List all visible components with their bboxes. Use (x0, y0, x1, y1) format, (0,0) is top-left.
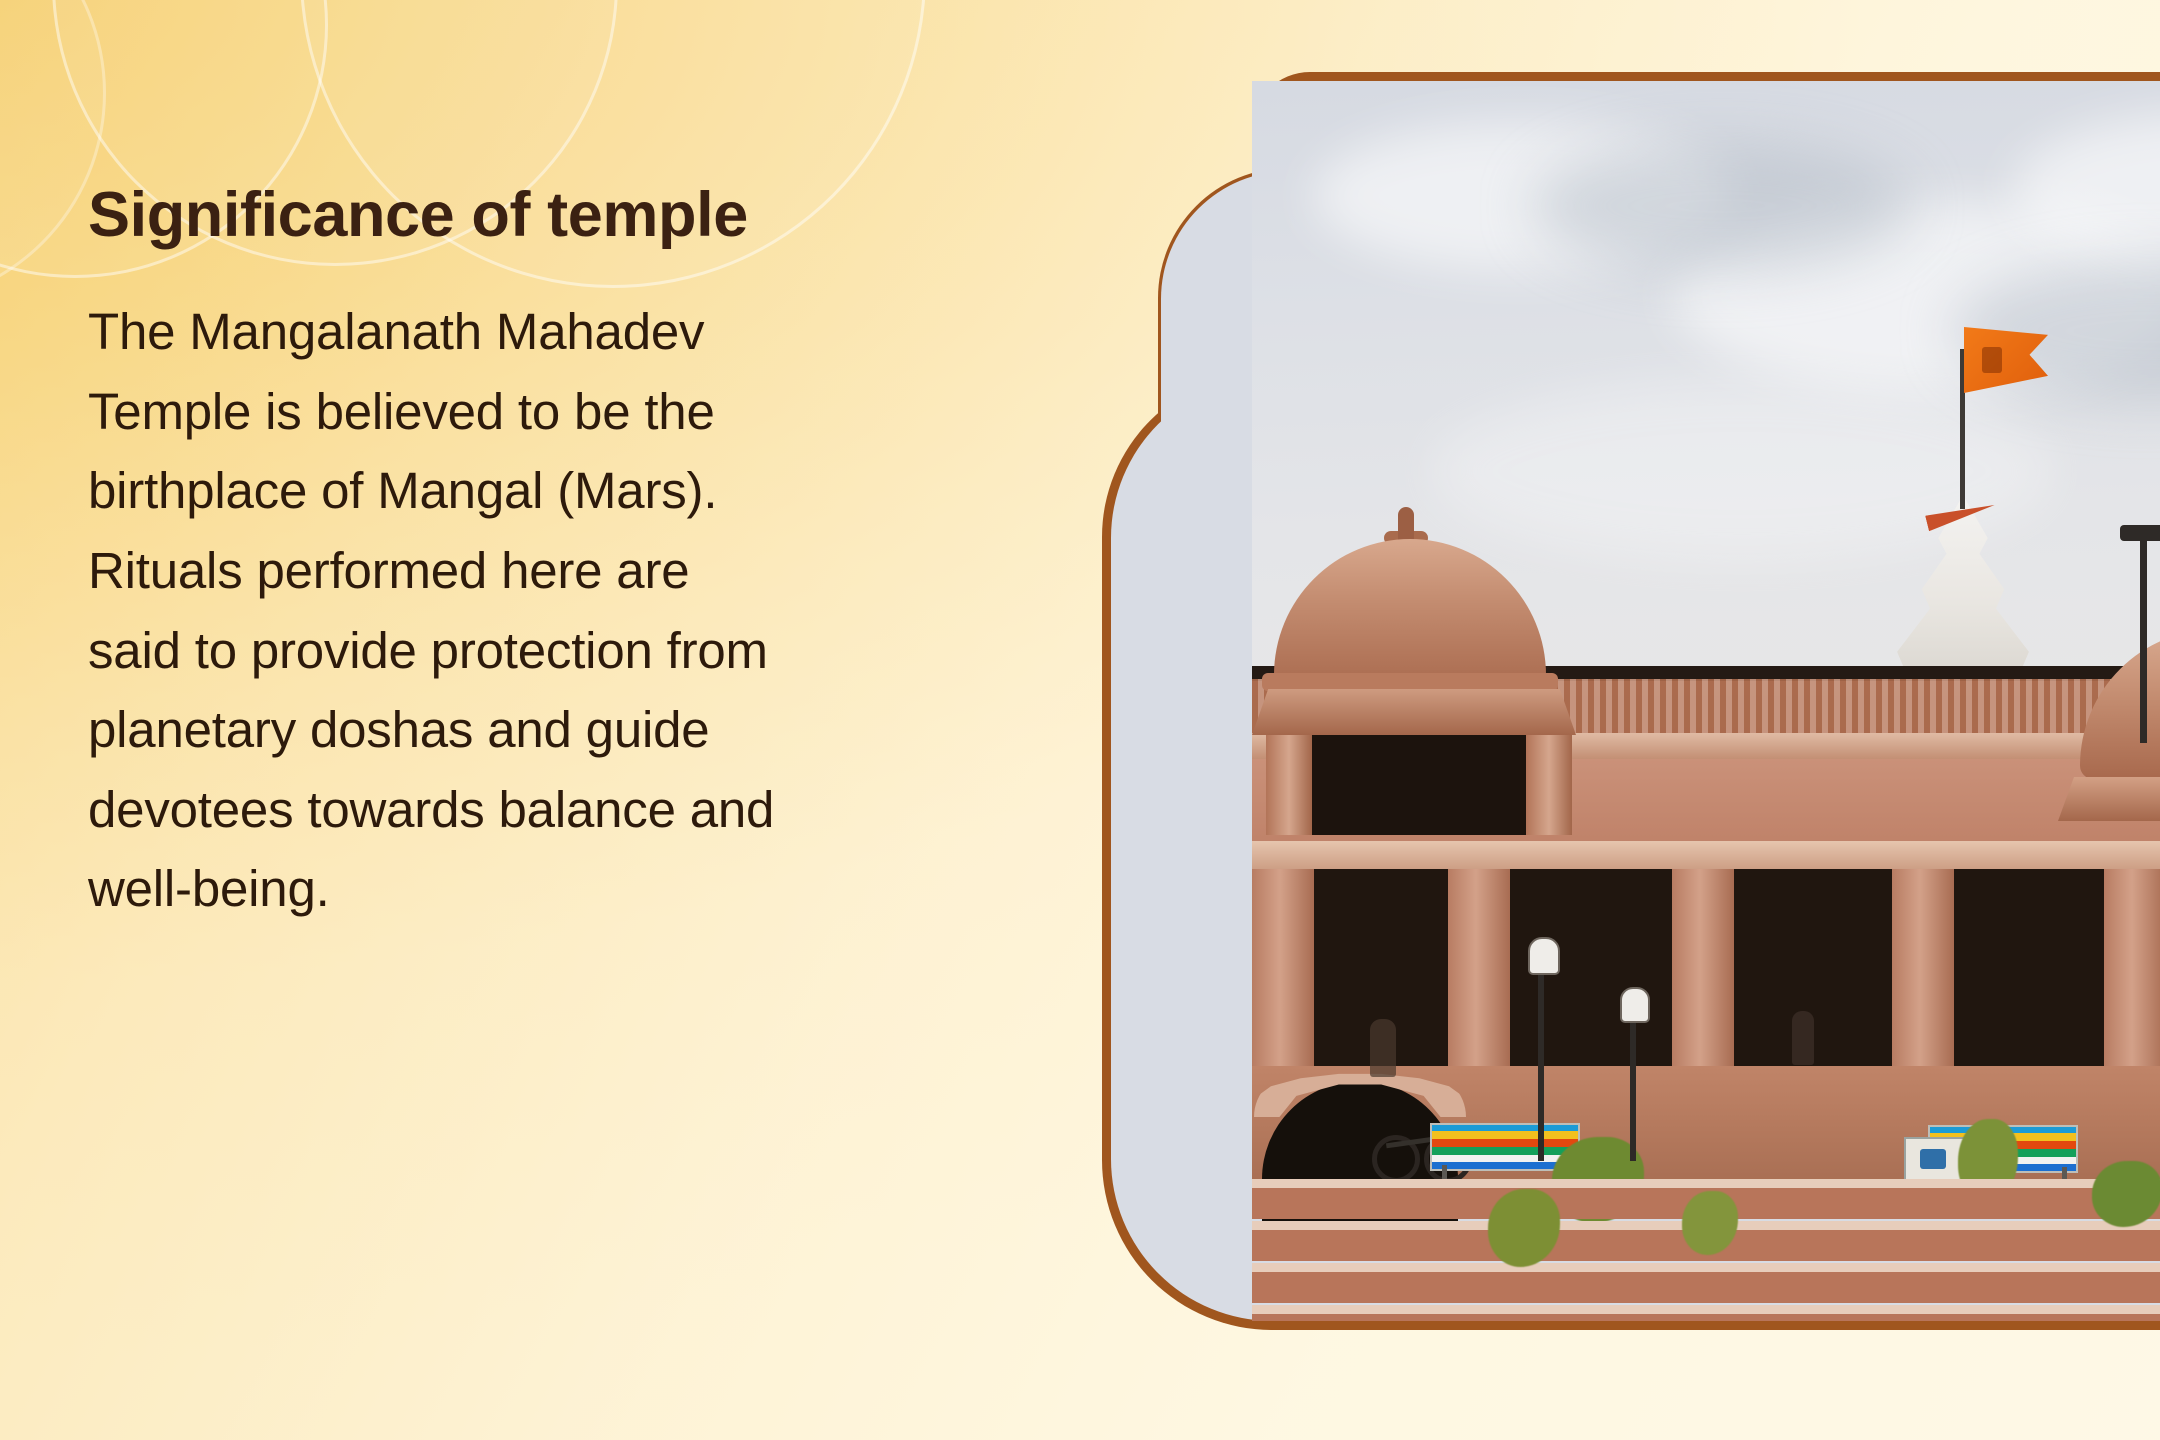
body-paragraph: The Mangalanath Mahadev Temple is believ… (88, 292, 788, 928)
cornice (1252, 841, 2160, 871)
street-lamp-globe (1620, 987, 1650, 1023)
pillar (1672, 869, 1734, 1069)
photo-mask-main (1252, 81, 2160, 1321)
step (1252, 1305, 2160, 1321)
dome (2080, 629, 2160, 779)
temple-photo-frame (1102, 72, 2160, 1330)
text-column: Significance of temple The Mangalanath M… (88, 178, 788, 929)
chhatri-canopy (2058, 777, 2160, 821)
chhatri-column (1266, 735, 1312, 835)
dome (1274, 539, 1546, 689)
pillar (1448, 869, 1510, 1069)
temple-scene (1252, 81, 2160, 1321)
street-lamp-pole (2140, 533, 2147, 743)
temple-photo (1111, 81, 2160, 1321)
pillar (2104, 869, 2160, 1069)
pillar (1252, 869, 1314, 1069)
step (1252, 1263, 2160, 1303)
dome-base-band (1262, 673, 1558, 691)
street-lamp-globe (1528, 937, 1560, 975)
cloud (1532, 141, 1912, 271)
chhatri-column (1526, 735, 1572, 835)
plant (2092, 1161, 2160, 1227)
spire-body (1860, 495, 2066, 691)
chhatri-dome-left (1260, 505, 1560, 835)
flag-emblem (1982, 347, 2002, 373)
person-silhouette (1792, 1011, 1814, 1065)
street-lamp-pole (1630, 1011, 1636, 1161)
pillar (1892, 869, 1954, 1069)
street-lamp-pole (1538, 961, 1544, 1161)
page-title: Significance of temple (88, 178, 788, 252)
shikhara-spire (1860, 479, 2066, 691)
person-silhouette (1370, 1019, 1396, 1077)
chhatri-canopy (1252, 689, 1576, 735)
signboard-logo (1920, 1149, 1946, 1169)
